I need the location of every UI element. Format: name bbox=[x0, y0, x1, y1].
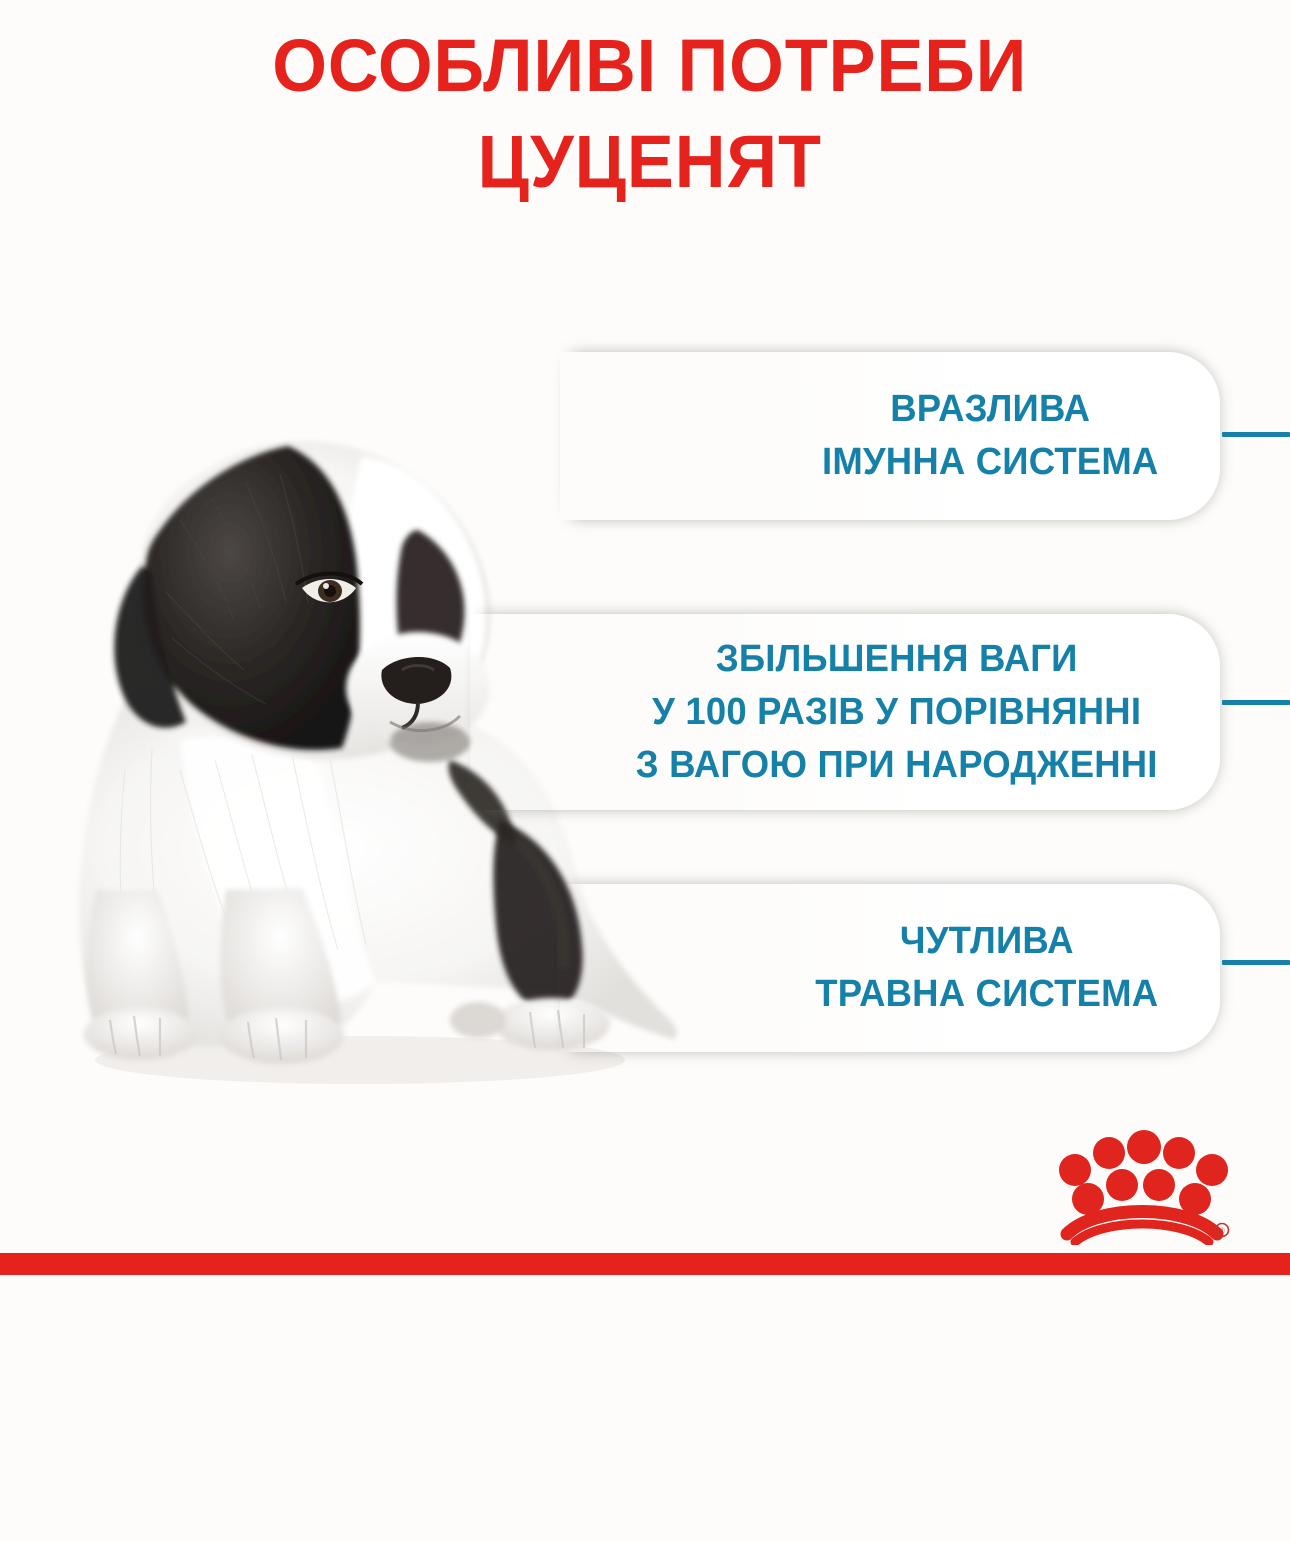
fact-text-immune-system: ВРАЗЛИВА ІМУННА СИСТЕМА bbox=[822, 383, 1158, 489]
fact-panel-immune-system: ВРАЗЛИВА ІМУННА СИСТЕМА bbox=[560, 352, 1220, 520]
fact-connector-line-3 bbox=[1222, 960, 1290, 965]
fact-panel-weight-gain: ЗБІЛЬШЕННЯ ВАГИ У 100 РАЗІВ У ПОРІВНЯННІ… bbox=[470, 614, 1220, 810]
page-title-line-2: ЦУЦЕНЯТ bbox=[32, 114, 1258, 210]
svg-text:®: ® bbox=[1219, 1227, 1225, 1236]
page-title-line-1: ОСОБЛИВІ ПОТРЕБИ bbox=[32, 18, 1258, 114]
fact-text-digestive-system: ЧУТЛИВА ТРАВНА СИСТЕМА bbox=[815, 915, 1158, 1021]
fact-panel-digestive-system: ЧУТЛИВА ТРАВНА СИСТЕМА bbox=[560, 884, 1220, 1052]
fact-text-weight-gain: ЗБІЛЬШЕННЯ ВАГИ У 100 РАЗІВ У ПОРІВНЯННІ… bbox=[636, 633, 1158, 792]
footer-red-divider bbox=[0, 1253, 1290, 1275]
fact-connector-line-1 bbox=[1222, 432, 1290, 437]
fact-connector-line-2 bbox=[1222, 700, 1290, 705]
page-title: ОСОБЛИВІ ПОТРЕБИ ЦУЦЕНЯТ bbox=[0, 18, 1290, 210]
royal-canin-crown-logo: ® bbox=[1055, 1130, 1230, 1245]
